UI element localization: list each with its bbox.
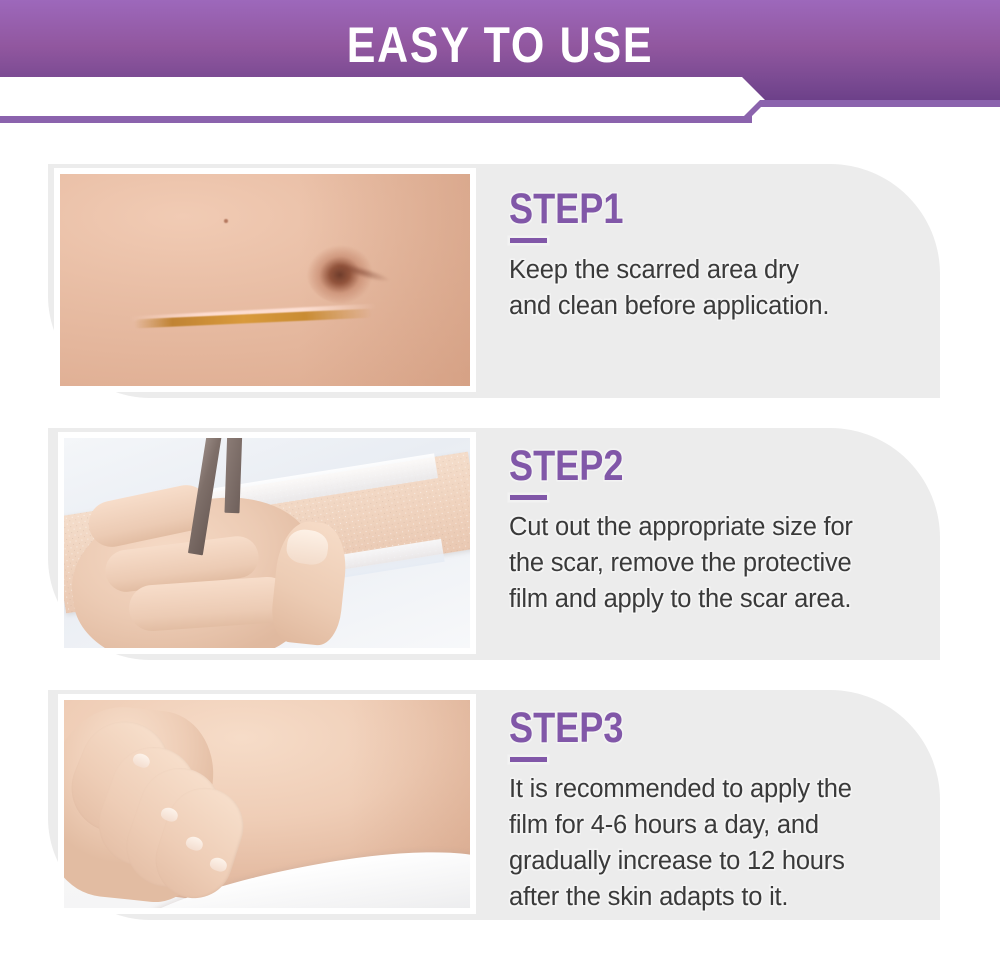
step-2-text-block: STEP2 Cut out the appropriate size for t… bbox=[509, 443, 929, 617]
step-2-description: Cut out the appropriate size for the sca… bbox=[509, 509, 929, 617]
step-3-text-block: STEP3 It is recommended to apply the fil… bbox=[509, 705, 929, 915]
step-1-photo-frame bbox=[54, 168, 476, 392]
banner-stripe-right bbox=[760, 100, 1000, 107]
photo-hand-on-abdomen bbox=[64, 700, 470, 908]
step-2-title: STEP2 bbox=[509, 443, 862, 489]
step-1-underline bbox=[510, 238, 547, 243]
page-title: EASY TO USE bbox=[70, 18, 930, 72]
step-3-underline bbox=[510, 757, 547, 762]
step-1-text-block: STEP1 Keep the scarred area dry and clea… bbox=[509, 186, 919, 324]
photo-abdomen-with-scar bbox=[60, 174, 470, 386]
skin-mole bbox=[224, 219, 228, 223]
photo-cutting-scar-sheet bbox=[64, 438, 470, 648]
step-2-photo-frame bbox=[58, 432, 476, 654]
step-1-title: STEP1 bbox=[509, 186, 853, 232]
step-3-title: STEP3 bbox=[509, 705, 862, 751]
step-2-underline bbox=[510, 495, 547, 500]
header-banner: EASY TO USE bbox=[0, 0, 1000, 126]
banner-stripe-left bbox=[0, 116, 752, 123]
step-1-description: Keep the scarred area dry and clean befo… bbox=[509, 252, 919, 324]
step-3-description: It is recommended to apply the film for … bbox=[509, 771, 929, 915]
step-3-photo-frame bbox=[58, 694, 476, 914]
